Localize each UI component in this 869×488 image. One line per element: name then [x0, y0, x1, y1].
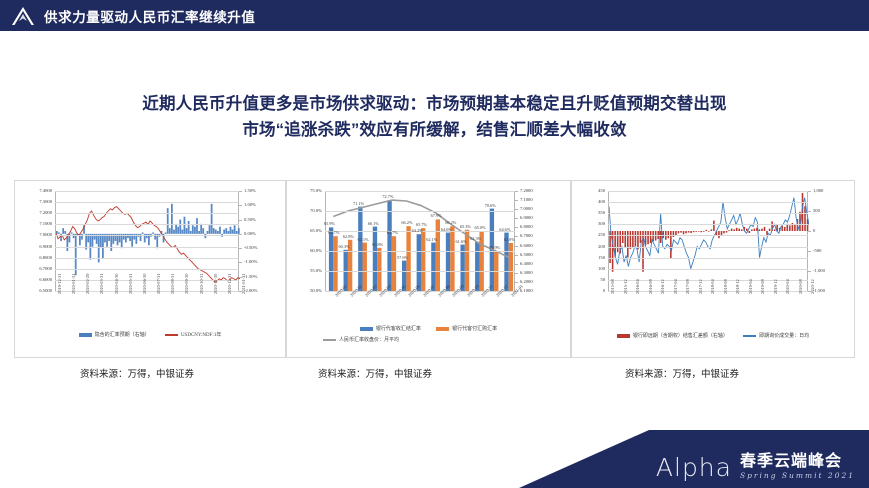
- bar: [181, 230, 183, 234]
- y2-axis-tick: [515, 246, 518, 247]
- bar: [683, 231, 685, 234]
- source-chart-3: 资料来源：万得，中银证券: [571, 366, 855, 382]
- x-axis-tick-label: 2020-10-31: [199, 274, 204, 295]
- y-axis-tick-label: 350: [572, 210, 605, 215]
- bar: [688, 231, 690, 233]
- y2-axis-tick: [515, 191, 518, 192]
- footer-brand: Alpha 春季云端峰会 Spring Summit 2021: [656, 454, 855, 480]
- bar: [194, 227, 196, 234]
- y2-axis-tick: [515, 282, 518, 283]
- x-axis-tick-label: 2020-08: [798, 279, 803, 294]
- legend-line-icon: [165, 334, 178, 336]
- x-axis-tick-label: 2021-01-31: [241, 274, 246, 295]
- y2-axis-tick-label: 500: [813, 208, 820, 213]
- gridline: [608, 269, 808, 270]
- x-axis-tick-label: 2016-12: [660, 279, 665, 294]
- gridline: [608, 235, 808, 236]
- x-axis-tick-label: 2020-07-31: [156, 274, 161, 295]
- bar: [711, 229, 713, 231]
- bar: [333, 236, 337, 291]
- data-label: 64.6%: [499, 227, 510, 232]
- bar: [190, 231, 192, 234]
- data-label: 62.3%: [470, 236, 481, 241]
- x-axis-tick-label: 2019-12: [773, 279, 778, 294]
- x-axis-tick-label: 2017-12: [698, 279, 703, 294]
- y2-axis-tick: [239, 205, 242, 206]
- bar: [171, 204, 173, 234]
- data-label: 72.7%: [382, 194, 393, 199]
- bar: [232, 230, 234, 234]
- x-axis-tick-label: 2018-12: [735, 279, 740, 294]
- bar: [612, 231, 614, 272]
- bar: [713, 221, 715, 231]
- bar: [749, 231, 751, 233]
- gridline: [55, 269, 239, 270]
- bar: [227, 231, 229, 234]
- bar: [761, 229, 763, 231]
- data-label: 65.0%: [474, 225, 485, 230]
- chart-3-plot: [608, 191, 808, 291]
- y-axis-tick-label: 300: [572, 221, 605, 226]
- bar: [373, 227, 377, 291]
- y2-axis-tick: [515, 209, 518, 210]
- bar: [784, 227, 786, 231]
- data-label: 63.7%: [387, 230, 398, 235]
- y2-axis-tick: [808, 191, 811, 192]
- y2-axis-tick: [515, 273, 518, 274]
- y-axis-tick-label: 7.1000: [19, 221, 52, 226]
- x-axis-tick-label: 2020-11-30: [213, 274, 218, 294]
- gridline: [55, 235, 239, 236]
- bar: [215, 230, 217, 234]
- gridline: [55, 202, 239, 203]
- y-axis-tick-label: 65.0%: [289, 228, 322, 233]
- x-axis-tick-label: 2018-04: [710, 279, 715, 294]
- bar: [234, 225, 236, 234]
- y-axis-tick-label: 7.3000: [19, 199, 52, 204]
- legend-swatch-icon: [79, 333, 92, 337]
- y2-axis-tick: [808, 271, 811, 272]
- bar: [726, 231, 728, 233]
- y2-axis-tick-label: 7.0000: [520, 206, 533, 211]
- data-label: 66.2%: [401, 220, 412, 225]
- bar: [421, 228, 425, 291]
- bar: [192, 225, 194, 234]
- data-label: 64.2%: [412, 228, 423, 233]
- bar: [169, 228, 171, 234]
- x-axis-tick-label: 2020-06-30: [142, 274, 147, 295]
- y2-axis-tick: [808, 251, 811, 252]
- header-title: 供求力量驱动人民币汇率继续升值: [44, 6, 256, 26]
- gridline: [608, 258, 808, 259]
- data-label: 62.8%: [343, 234, 354, 239]
- bar: [175, 224, 177, 234]
- gridline: [55, 247, 239, 248]
- x-axis-tick-label: 2019-04: [748, 279, 753, 294]
- data-label: 65.9%: [324, 221, 335, 226]
- bar: [741, 229, 743, 231]
- data-label: 64.6%: [441, 227, 452, 232]
- x-axis-tick-label: 2018-08: [723, 279, 728, 294]
- bar: [230, 227, 232, 234]
- gridline: [55, 291, 239, 292]
- x-axis-tick-label: 2019-08: [760, 279, 765, 294]
- footer-cn-title: 春季云端峰会: [740, 454, 855, 471]
- y2-axis-tick-label: 0.50%: [244, 217, 256, 222]
- bar: [789, 225, 791, 231]
- y2-axis-tick: [808, 231, 811, 232]
- y-axis-tick-label: 55.0%: [289, 268, 322, 273]
- y-axis-tick-label: 50: [572, 277, 605, 282]
- bar: [733, 229, 735, 231]
- bar: [680, 231, 682, 233]
- y2-axis-tick: [515, 227, 518, 228]
- bar: [769, 229, 771, 231]
- x-axis-tick-label: 2020-05-31: [128, 274, 133, 295]
- bar: [358, 207, 362, 291]
- bar: [736, 228, 738, 231]
- bar: [640, 231, 642, 243]
- chart-2-legend-item-2: 人民币汇率收盘价：月平均: [323, 336, 399, 343]
- y2-axis-tick-label: 6.8000: [520, 224, 533, 229]
- mountain-logo-icon: [10, 5, 36, 27]
- y-axis-tick-label: 6.7000: [19, 266, 52, 271]
- bar: [392, 236, 396, 291]
- x-axis-tick-label: 2020-12-31: [227, 274, 232, 295]
- y-axis-tick-label: 400: [572, 199, 605, 204]
- data-label: 61.6%: [455, 239, 466, 244]
- data-label: 62.1%: [358, 237, 369, 242]
- bar: [202, 228, 204, 234]
- chart-2-legend-label-2: 人民币汇率收盘价：月平均: [339, 338, 399, 343]
- chart-2-legend-label-0: 银行代客收汇结汇率: [376, 327, 421, 332]
- y2-axis-tick: [515, 264, 518, 265]
- y2-axis-tick-label: 1.00%: [244, 202, 256, 207]
- gridline: [325, 191, 515, 192]
- chart-series-layer: [609, 191, 809, 291]
- bar: [708, 231, 710, 232]
- y-axis-tick-label: 200: [572, 244, 605, 249]
- gridline: [608, 224, 808, 225]
- bar: [731, 229, 733, 231]
- data-label: 59.9%: [489, 245, 500, 250]
- gridline: [55, 224, 239, 225]
- header-bar: 供求力量驱动人民币汇率继续升值: [0, 0, 869, 31]
- y2-axis-tick: [515, 236, 518, 237]
- footer-alpha-logo: Alpha: [656, 455, 732, 480]
- y2-axis-tick: [808, 211, 811, 212]
- bar: [186, 228, 188, 234]
- y-axis-tick-label: 75.0%: [289, 188, 322, 193]
- page-title-line2: 市场“追涨杀跌”效应有所缓解，结售汇顺差大幅收敛: [0, 118, 869, 144]
- footer-en-title: Spring Summit 2021: [740, 471, 855, 480]
- footer: Alpha 春季云端峰会 Spring Summit 2021: [0, 430, 869, 488]
- bar: [794, 225, 796, 231]
- chart-3-legend-item-1: 即期询价成交量：日均: [743, 332, 809, 339]
- data-label: 65.7%: [416, 222, 427, 227]
- charts-row: 隐含的汇率预期（右轴） USDCNY:NDF:1年 7.40007.30007.…: [14, 180, 855, 360]
- bar: [165, 232, 167, 233]
- gridline: [325, 271, 515, 272]
- y-axis-tick-label: 7.2000: [19, 210, 52, 215]
- data-label: 65.3%: [460, 224, 471, 229]
- bar: [804, 206, 806, 231]
- page-title-line1: 近期人民币升值更多是市场供求驱动：市场预期基本稳定且升贬值预期交替出现: [0, 92, 869, 118]
- gridline: [608, 191, 808, 192]
- x-axis-tick-label: 2020-09-30: [184, 274, 189, 295]
- bar: [207, 231, 209, 234]
- gridline: [608, 202, 808, 203]
- bar: [706, 230, 708, 231]
- bar: [685, 231, 687, 233]
- bar: [152, 232, 154, 233]
- bar: [188, 221, 190, 234]
- bar: [213, 228, 215, 234]
- data-label: 67.9%: [431, 213, 442, 218]
- bar: [781, 226, 783, 231]
- bar: [738, 229, 740, 231]
- bar: [225, 228, 227, 234]
- bar: [219, 227, 221, 234]
- gridline: [55, 213, 239, 214]
- bar: [647, 231, 649, 244]
- page-title: 近期人民币升值更多是市场供求驱动：市场预期基本稳定且升贬值预期交替出现 市场“追…: [0, 92, 869, 143]
- bar: [700, 231, 702, 232]
- chart-3-legend-label-0: 银行即远期（含期权）结售汇差额（右轴）: [633, 334, 728, 339]
- bar: [695, 231, 697, 232]
- data-label: 70.6%: [485, 203, 496, 208]
- y2-axis-tick: [239, 262, 242, 263]
- chart-1-legend-item-0: 隐含的汇率预期（右轴）: [79, 331, 150, 338]
- legend-swatch-icon: [436, 327, 449, 331]
- bar: [200, 224, 202, 234]
- y-axis-tick-label: 0: [572, 288, 605, 293]
- chart-2-legend-item-1: 银行代客付汇购汇率: [436, 325, 497, 332]
- bar: [690, 231, 692, 233]
- y2-axis-tick-label: -500: [813, 248, 821, 253]
- y2-axis-tick-label: 6.4000: [520, 261, 533, 266]
- y-axis-tick-label: 250: [572, 232, 605, 237]
- bar: [142, 232, 144, 233]
- x-axis-tick-label: 2020-01-31: [71, 274, 76, 295]
- y2-axis-tick-label: 0.00%: [244, 231, 256, 236]
- x-axis-tick-label: 2020-12: [810, 279, 815, 294]
- bar: [721, 231, 723, 235]
- y2-axis-tick: [239, 248, 242, 249]
- gridline: [325, 211, 515, 212]
- bar: [617, 231, 619, 252]
- y2-axis-tick: [515, 218, 518, 219]
- y2-axis-tick-label: 6.6000: [520, 243, 533, 248]
- x-axis-tick-label: 2020-03-31: [99, 274, 104, 295]
- bar: [363, 243, 367, 291]
- y-axis-tick-label: 7.4000: [19, 188, 52, 193]
- chart-3-legend: 银行即远期（含期权）结售汇差额（右轴） 即期询价成交量：日均: [572, 332, 854, 339]
- x-axis-tick-label: 2020-04: [785, 279, 790, 294]
- y-axis-tick-label: 70.0%: [289, 208, 322, 213]
- bar: [746, 229, 748, 231]
- chart-3-legend-item-0: 银行即远期（含期权）结售汇差额（右轴）: [617, 332, 728, 339]
- y2-axis-tick: [239, 234, 242, 235]
- x-axis-tick-label: 2020-08-31: [170, 274, 175, 295]
- bar: [62, 228, 64, 234]
- y2-axis-tick: [239, 220, 242, 221]
- y2-axis-tick-label: 6.3000: [520, 270, 533, 275]
- y-axis-tick-label: 7.0000: [19, 232, 52, 237]
- y2-axis-tick-label: 7.2000: [520, 188, 533, 193]
- bar: [703, 231, 705, 232]
- bar: [329, 227, 333, 291]
- data-label: 66.2%: [445, 220, 456, 225]
- bar: [177, 227, 179, 234]
- y2-axis-tick-label: 6.5000: [520, 252, 533, 257]
- bar: [223, 230, 225, 234]
- bar: [650, 231, 652, 243]
- bar: [635, 231, 637, 246]
- source-chart-2: 资料来源：万得，中银证券: [286, 366, 571, 382]
- x-axis-tick-label: 2016-04: [635, 279, 640, 294]
- bar: [764, 227, 766, 231]
- source-chart-1: 资料来源：万得，中银证券: [14, 366, 286, 382]
- bar: [58, 232, 60, 233]
- chart-3-card: 银行即远期（含期权）结售汇差额（右轴） 即期询价成交量：日均 450400350…: [571, 180, 855, 358]
- bar: [723, 231, 725, 233]
- gridline: [55, 191, 239, 192]
- bar: [387, 200, 391, 291]
- chart-1-legend-label-0: 隐含的汇率预期（右轴）: [95, 333, 150, 338]
- x-axis-tick-label: 2017-04: [673, 279, 678, 294]
- y2-axis-tick-label: 1.50%: [244, 188, 256, 193]
- chart-2-legend: 银行代客收汇结汇率 银行代客付汇购汇率: [287, 325, 570, 332]
- bar: [698, 231, 700, 232]
- legend-swatch-icon: [617, 334, 630, 338]
- y2-axis-tick-label: 1,000: [813, 188, 823, 193]
- y2-axis-tick-label: 0: [813, 228, 815, 233]
- y2-axis-tick-label: -1,000: [813, 268, 825, 273]
- gridline: [55, 280, 239, 281]
- bar: [377, 248, 381, 291]
- x-axis-tick-label: 2016-08: [648, 279, 653, 294]
- x-axis-tick-label: 2015-12: [623, 279, 628, 294]
- data-label: 66.1%: [368, 221, 379, 226]
- y2-axis-tick-label: 7.1000: [520, 197, 533, 202]
- y-axis-tick-label: 60.0%: [289, 248, 322, 253]
- chart-1-legend: 隐含的汇率预期（右轴） USDCNY:NDF:1年: [15, 331, 285, 338]
- y2-axis-tick: [239, 191, 242, 192]
- y2-axis-tick-label: 6.2000: [520, 279, 533, 284]
- y-axis-tick-label: 6.5000: [19, 288, 52, 293]
- y-axis-tick-label: 50.0%: [289, 288, 322, 293]
- y2-axis-tick-label: 6.9000: [520, 215, 533, 220]
- bar: [759, 229, 761, 231]
- data-label: 57.6%: [397, 255, 408, 260]
- data-label: 71.1%: [353, 201, 364, 206]
- y2-axis-tick-label: -0.50%: [244, 245, 257, 250]
- chart-2-card: 银行代客收汇结汇率 银行代客付汇购汇率 人民币汇率收盘价：月平均 75.0%70…: [286, 180, 571, 358]
- bar: [450, 226, 454, 291]
- legend-swatch-icon: [360, 327, 373, 331]
- data-label: 60.3%: [339, 244, 350, 249]
- bar: [179, 220, 181, 234]
- chart-2-legend-item-0: 银行代客收汇结汇率: [360, 325, 421, 332]
- x-axis-tick-label: 2017-08: [685, 279, 690, 294]
- y-axis-tick-label: 100: [572, 266, 605, 271]
- gridline: [608, 247, 808, 248]
- y-axis-tick-label: 150: [572, 255, 605, 260]
- y-axis-tick-label: 6.8000: [19, 255, 52, 260]
- bar: [209, 225, 211, 234]
- bar: [173, 230, 175, 234]
- chart-2-legend-row2: 人民币汇率收盘价：月平均: [287, 336, 570, 343]
- bar: [624, 231, 626, 248]
- bar: [622, 231, 624, 243]
- y2-axis-tick-label: -1.00%: [244, 259, 257, 264]
- data-label: 60.8%: [372, 242, 383, 247]
- bar: [678, 231, 680, 233]
- x-axis-tick-label: 2020-04-30: [114, 274, 119, 295]
- bar: [728, 230, 730, 231]
- x-axis-tick-label: 2015-08: [610, 279, 615, 294]
- chart-2-legend-label-1: 银行代客付汇购汇率: [452, 327, 497, 332]
- source-captions: 资料来源：万得，中银证券 资料来源：万得，中银证券 资料来源：万得，中银证券: [14, 366, 855, 382]
- bar: [660, 231, 662, 243]
- bar: [196, 218, 198, 234]
- bar: [167, 208, 169, 234]
- data-label: 62.1%: [426, 237, 437, 242]
- bar: [236, 231, 238, 234]
- y2-axis-tick-label: -2.00%: [244, 288, 257, 293]
- bar: [751, 229, 753, 231]
- chart-1-legend-label-1: USDCNY:NDF:1年: [181, 333, 221, 338]
- y2-axis-tick: [515, 200, 518, 201]
- chart-1-card: 隐含的汇率预期（右轴） USDCNY:NDF:1年 7.40007.30007.…: [14, 180, 286, 358]
- legend-line-icon: [743, 335, 756, 337]
- x-axis-tick-label: 2020-02-29: [85, 274, 90, 295]
- gridline: [608, 213, 808, 214]
- bar: [754, 229, 756, 231]
- bar: [632, 231, 634, 247]
- data-label: 63.7%: [328, 230, 339, 235]
- y-axis-tick-label: 6.9000: [19, 244, 52, 249]
- bar: [217, 231, 219, 234]
- bar: [71, 232, 73, 233]
- y2-axis-tick: [515, 255, 518, 256]
- legend-line-icon: [323, 339, 336, 341]
- gridline: [55, 258, 239, 259]
- data-label: 62.0%: [504, 237, 515, 242]
- y2-axis-tick-label: -1.50%: [244, 274, 257, 279]
- gridline: [325, 251, 515, 252]
- chart-1-plot: [55, 191, 239, 291]
- bar: [198, 231, 200, 234]
- bar: [211, 204, 213, 234]
- y-axis-tick-label: 450: [572, 188, 605, 193]
- bar: [774, 229, 776, 231]
- y2-axis-tick-label: 6.7000: [520, 233, 533, 238]
- y-axis-tick-label: 6.6000: [19, 277, 52, 282]
- bar: [446, 233, 450, 291]
- x-axis-tick-label: 2019-12-31: [57, 274, 62, 295]
- chart-1-legend-item-1: USDCNY:NDF:1年: [165, 331, 221, 338]
- chart-3-legend-label-1: 即期询价成交量：日均: [759, 334, 809, 339]
- bar: [64, 231, 66, 234]
- bar: [693, 231, 695, 232]
